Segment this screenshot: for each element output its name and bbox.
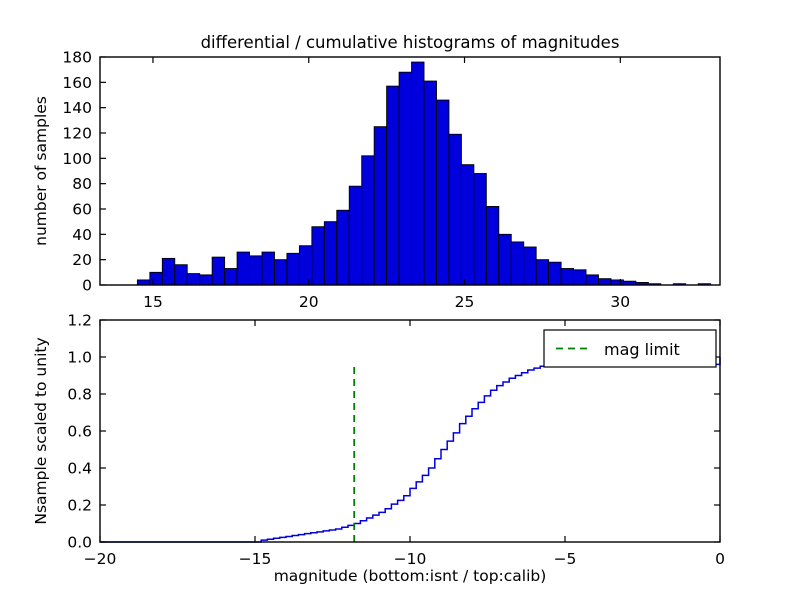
y-tick-label: 1.0 <box>67 349 92 367</box>
top-y-axis-label: number of samples <box>32 96 50 246</box>
histogram-bar <box>611 280 623 285</box>
x-tick-label: 20 <box>299 293 319 311</box>
y-tick-label: 40 <box>72 226 92 244</box>
histogram-bar <box>262 252 274 285</box>
y-tick-label: 0.8 <box>67 386 92 404</box>
x-tick-label: −20 <box>84 550 117 568</box>
histogram-bar <box>536 260 548 285</box>
histogram-bar <box>574 270 586 285</box>
chart-title: differential / cumulative histograms of … <box>201 33 620 52</box>
legend[interactable]: mag limit <box>544 330 716 367</box>
histogram-bar <box>187 274 199 285</box>
histogram-bar <box>250 256 262 285</box>
histogram-bar <box>324 222 336 285</box>
histogram-bar <box>586 275 598 285</box>
x-tick-label: −5 <box>554 550 577 568</box>
x-tick-label: −15 <box>239 550 272 568</box>
y-tick-label: 80 <box>72 175 92 193</box>
histogram-bar <box>424 81 436 285</box>
histogram-bar <box>137 280 149 285</box>
y-tick-label: 180 <box>62 49 92 67</box>
histogram-bar <box>374 127 386 285</box>
histogram-bar <box>175 265 187 285</box>
y-tick-label: 100 <box>62 150 92 168</box>
histogram-bar <box>200 275 212 285</box>
y-tick-label: 60 <box>72 201 92 219</box>
matplotlib-figure: differential / cumulative histograms of … <box>0 0 800 600</box>
histogram-bar <box>524 247 536 285</box>
histogram-bar <box>549 262 561 285</box>
histogram-bar <box>362 156 374 285</box>
figure-canvas: differential / cumulative histograms of … <box>0 0 800 600</box>
x-tick-label: 15 <box>143 293 163 311</box>
histogram-bar <box>349 186 361 285</box>
histogram-bar <box>436 100 448 285</box>
histogram-bar <box>162 258 174 285</box>
histogram-bar <box>461 165 473 285</box>
histogram-bar <box>274 260 286 285</box>
y-tick-label: 20 <box>72 251 92 269</box>
y-tick-label: 1.2 <box>67 312 92 330</box>
x-tick-label: 30 <box>610 293 630 311</box>
histogram-bar <box>225 269 237 285</box>
y-tick-label: 0.2 <box>67 497 92 515</box>
histogram-bar <box>412 62 424 285</box>
x-tick-label: −10 <box>394 550 427 568</box>
bottom-y-axis-label: Nsample scaled to unity <box>32 337 50 524</box>
histogram-bar <box>499 234 511 285</box>
histogram-bar <box>299 246 311 285</box>
histogram-bar <box>399 72 411 285</box>
histogram-bar <box>598 279 610 285</box>
histogram-bar <box>287 253 299 285</box>
y-tick-label: 0.0 <box>67 534 92 552</box>
histogram-bar <box>449 134 461 285</box>
histogram-bar <box>561 269 573 285</box>
histogram-bar <box>150 272 162 285</box>
y-tick-label: 0.4 <box>67 460 92 478</box>
x-tick-label: 25 <box>455 293 475 311</box>
histogram-bar <box>237 252 249 285</box>
y-tick-label: 160 <box>62 74 92 92</box>
y-tick-label: 140 <box>62 99 92 117</box>
histogram-bar <box>511 242 523 285</box>
y-tick-label: 0.6 <box>67 423 92 441</box>
y-tick-label: 0 <box>82 277 92 295</box>
y-tick-label: 120 <box>62 125 92 143</box>
x-tick-label: 0 <box>715 550 725 568</box>
histogram-bar <box>474 174 486 285</box>
histogram-bar <box>387 86 399 285</box>
histogram-bar <box>337 210 349 285</box>
histogram-bar <box>486 206 498 285</box>
histogram-bar <box>312 227 324 285</box>
legend-label-mag-limit: mag limit <box>604 340 680 359</box>
x-axis-label: magnitude (bottom:isnt / top:calib) <box>274 567 547 585</box>
histogram-bar <box>212 257 224 285</box>
